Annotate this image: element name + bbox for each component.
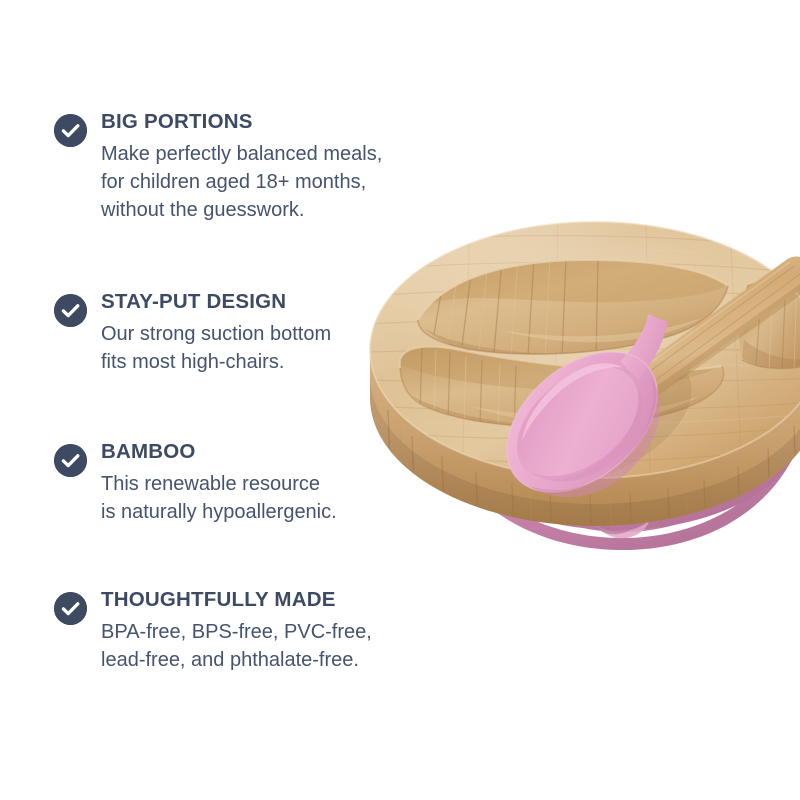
feature-body-line: Our strong suction bottom — [101, 320, 474, 348]
feature-body-line: BPA-free, BPS-free, PVC-free, — [101, 618, 474, 646]
feature-item: THOUGHTFULLY MADE BPA-free, BPS-free, PV… — [54, 590, 474, 674]
feature-text: BIG PORTIONS Make perfectly balanced mea… — [101, 112, 474, 225]
check-circle-icon — [54, 444, 87, 477]
product-feature-graphic: BIG PORTIONS Make perfectly balanced mea… — [0, 0, 800, 800]
feature-item: STAY-PUT DESIGN Our strong suction botto… — [54, 292, 474, 376]
feature-list: BIG PORTIONS Make perfectly balanced mea… — [0, 0, 470, 800]
feature-text: STAY-PUT DESIGN Our strong suction botto… — [101, 292, 474, 376]
feature-body-line: fits most high-chairs. — [101, 348, 474, 376]
feature-body-line: without the guesswork. — [101, 196, 474, 224]
feature-title: THOUGHTFULLY MADE — [101, 590, 474, 611]
feature-item: BIG PORTIONS Make perfectly balanced mea… — [54, 112, 474, 225]
feature-body-line: lead-free, and phthalate-free. — [101, 646, 474, 674]
check-circle-icon — [54, 114, 87, 147]
check-circle-icon — [54, 592, 87, 625]
feature-title: BIG PORTIONS — [101, 112, 474, 133]
feature-title: BAMBOO — [101, 442, 474, 463]
feature-body: Our strong suction bottom fits most high… — [101, 320, 474, 377]
feature-body: This renewable resource is naturally hyp… — [101, 470, 474, 527]
feature-body: BPA-free, BPS-free, PVC-free, lead-free,… — [101, 618, 474, 675]
feature-body-line: for children aged 18+ months, — [101, 168, 474, 196]
feature-item: BAMBOO This renewable resource is natura… — [54, 442, 474, 526]
feature-body: Make perfectly balanced meals, for child… — [101, 140, 474, 225]
feature-body-line: Make perfectly balanced meals, — [101, 140, 474, 168]
feature-body-line: is naturally hypoallergenic. — [101, 498, 474, 526]
feature-text: THOUGHTFULLY MADE BPA-free, BPS-free, PV… — [101, 590, 474, 674]
feature-body-line: This renewable resource — [101, 470, 474, 498]
check-circle-icon — [54, 294, 87, 327]
feature-title: STAY-PUT DESIGN — [101, 292, 474, 313]
feature-text: BAMBOO This renewable resource is natura… — [101, 442, 474, 526]
